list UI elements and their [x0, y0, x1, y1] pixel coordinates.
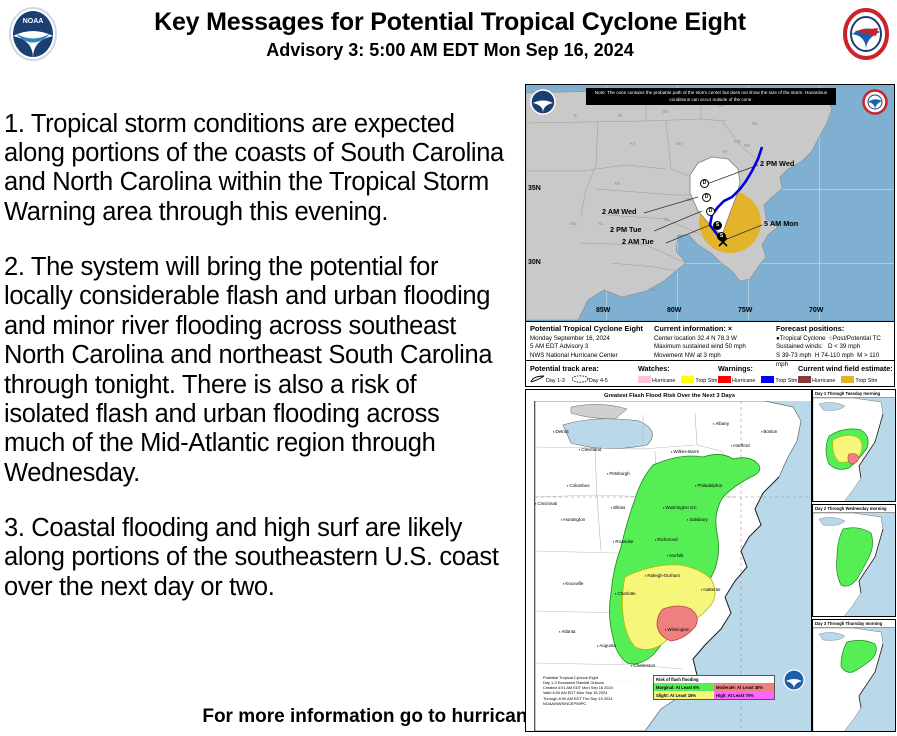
- forecast-position-2am-tue: S: [713, 221, 722, 230]
- track-label-2am-wed: 2 AM Wed: [602, 207, 636, 216]
- city-label: Hartford: [731, 443, 750, 448]
- info-date: Monday September 16, 2024: [530, 335, 648, 344]
- key-message-1: 1. Tropical storm conditions are expecte…: [4, 110, 504, 228]
- advisory-subtitle: Advisory 3: 5:00 AM EDT Mon Sep 16, 2024: [80, 40, 820, 61]
- city-label: Cincinnati: [535, 501, 557, 506]
- sustained-winds-label: Sustained winds:: [776, 343, 823, 350]
- city-label: Richmond: [655, 537, 678, 542]
- wind-field-label: Current wind field estimate:: [798, 364, 893, 374]
- forecast-positions-header: Forecast positions:: [776, 324, 892, 335]
- wind-hurricane-swatch: [798, 376, 811, 383]
- legend-day13: Day 1-3: [546, 378, 565, 384]
- nws-logo: [840, 6, 892, 62]
- forecast-cone-graphic: ILINOH PAWVVA KYTNNC SCGAAL MSFL NJDEMD …: [525, 84, 895, 387]
- forecast-position-now: S: [717, 232, 726, 241]
- track-area-label: Potential track area:: [530, 364, 599, 373]
- key-messages-list: 1. Tropical storm conditions are expecte…: [4, 84, 504, 621]
- watch-hurricane-label: Hurricane: [652, 378, 675, 384]
- cone-of-uncertainty: [526, 85, 894, 320]
- city-label: Atlanta: [559, 629, 575, 634]
- header: NOAA Key Messages for Potential Tropical…: [0, 0, 897, 78]
- svg-text:NOAA: NOAA: [23, 18, 44, 25]
- day1-panel: Day 1 Through Tuesday morning: [812, 389, 896, 502]
- wind-hurricane-label: Hurricane: [812, 378, 835, 384]
- max-sustained-wind: Maximum sustained wind 50 mph: [654, 343, 772, 352]
- wpc-meta-line: NOAA/NWS/NCEP/WPC: [543, 701, 653, 706]
- cone-info-panel: Potential Tropical Cyclone Eight Monday …: [526, 321, 894, 387]
- day45-cone-icon: [571, 375, 589, 383]
- watch-tropstm-label: Trop Stm: [695, 378, 717, 384]
- warnings-label: Warnings:: [718, 364, 753, 374]
- risk-slight: Slight: At Least 15%: [654, 691, 714, 699]
- day13-cone-icon: [530, 375, 546, 383]
- day3-map: [813, 628, 896, 732]
- wpc-noaa-logo: [783, 669, 805, 691]
- flash-flood-risk-legend: Risk of flash flooding Marginal: At Leas…: [653, 675, 775, 700]
- forecast-position-2pm-wed: D: [700, 179, 709, 188]
- info-advisory: 5 AM EDT Advisory 3: [530, 343, 648, 352]
- track-label-5am-mon: 5 AM Mon: [764, 219, 798, 228]
- risk-marginal: Marginal: At Least 5%: [654, 683, 714, 691]
- watch-hurricane-swatch: [638, 376, 651, 383]
- page-title: Key Messages for Potential Tropical Cycl…: [80, 8, 820, 37]
- wind-tropstm-swatch: [841, 376, 854, 383]
- city-label: Elkins: [611, 505, 625, 510]
- noaa-logo: NOAA: [5, 6, 61, 66]
- warn-tropstm-label: Trop Stm: [775, 378, 797, 384]
- risk-moderate: Moderate: At Least 40%: [714, 683, 774, 691]
- day2-title: Day 2 Through Wednesday morning: [813, 505, 895, 513]
- track-label-2pm-tue: 2 PM Tue: [610, 225, 642, 234]
- warn-hurricane-label: Hurricane: [732, 378, 755, 384]
- fp-post-potential: Post/Potential TC: [833, 335, 881, 342]
- wind-cat-h: H 74-110 mph: [815, 352, 854, 359]
- wind-cat-d: D < 39 mph: [828, 343, 860, 350]
- current-position-x-icon: ×: [728, 324, 732, 333]
- city-label: Philadelphia: [695, 483, 722, 488]
- track-label-2am-tue: 2 AM Tue: [622, 237, 654, 246]
- wind-tropstm-label: Trop Stm: [855, 378, 877, 384]
- day2-map: [813, 513, 896, 617]
- city-label: Charlotte: [615, 591, 636, 596]
- daily-outlook-panels: Day 1 Through Tuesday morning Day 2 Thro…: [812, 389, 896, 732]
- track-label-2pm-wed: 2 PM Wed: [760, 159, 794, 168]
- forecast-position-2pm-tue: D: [706, 207, 715, 216]
- key-message-3: 3. Coastal flooding and high surf are li…: [4, 514, 504, 602]
- city-label: Roanoke: [613, 539, 633, 544]
- wind-cat-s: S 39-73 mph: [776, 352, 811, 359]
- cone-noaa-logo: [530, 89, 556, 115]
- current-information-header: Current information:: [654, 324, 726, 333]
- day1-title: Day 1 Through Tuesday morning: [813, 390, 895, 398]
- city-label: Augusta: [597, 643, 616, 648]
- city-label: Cleveland: [579, 447, 601, 452]
- city-label: Detroit: [553, 429, 569, 434]
- wpc-map-canvas: Detroit Cleveland Pittsburgh Columbus Ci…: [534, 401, 812, 731]
- cone-legend: Potential track area: Day 1-3 Day 4-5 Wa…: [526, 360, 894, 387]
- day2-panel: Day 2 Through Wednesday morning: [812, 504, 896, 617]
- city-label: Wilkes-Barre: [671, 449, 699, 454]
- excessive-rainfall-outlook-map: Greatest Flash Flood Risk Over the Next …: [525, 389, 812, 732]
- cone-map: ILINOH PAWVVA KYTNNC SCGAAL MSFL NJDEMD …: [526, 85, 894, 320]
- city-label: Charleston: [631, 663, 655, 668]
- risk-high: High: At Least 70%: [714, 691, 774, 699]
- legend-day45: Day 4-5: [589, 378, 608, 384]
- city-label: Washington DC: [663, 505, 697, 510]
- watch-tropstm-swatch: [681, 376, 694, 383]
- day3-title: Day 3 Through Thursday morning: [813, 620, 895, 628]
- cone-nws-logo: [862, 89, 888, 115]
- day3-panel: Day 3 Through Thursday morning: [812, 619, 896, 732]
- city-label: Norfolk: [667, 553, 684, 558]
- city-label: Raleigh-Durham: [645, 573, 680, 578]
- city-label: Knoxville: [563, 581, 583, 586]
- wpc-map-title: Greatest Flash Flood Risk Over the Next …: [526, 393, 812, 399]
- city-label: Hatteras: [701, 587, 720, 592]
- city-label: Pittsburgh: [607, 471, 630, 476]
- day1-map: [813, 398, 896, 502]
- city-label: Boston: [761, 429, 777, 434]
- fp-tropical-cyclone: Tropical Cyclone: [780, 335, 826, 342]
- warn-hurricane-swatch: [718, 376, 731, 383]
- warn-tropstm-swatch: [761, 376, 774, 383]
- city-label: Huntington: [561, 517, 585, 522]
- key-message-2: 2. The system will bring the potential f…: [4, 253, 504, 489]
- risk-legend-header: Risk of flash flooding: [654, 676, 774, 683]
- city-label: Columbus: [567, 483, 590, 488]
- watches-label: Watches:: [638, 364, 670, 374]
- wpc-metadata: Potential Tropical Cyclone Eight Day 1-3…: [541, 673, 655, 708]
- city-label: Salisbury: [687, 517, 708, 522]
- city-label: Albany: [713, 421, 729, 426]
- forecast-position-2am-wed: D: [702, 193, 711, 202]
- storm-name: Potential Tropical Cyclone Eight: [530, 324, 648, 335]
- city-label: Wilmington: [665, 627, 690, 632]
- center-location: Center location 32.4 N 78.3 W: [654, 335, 772, 344]
